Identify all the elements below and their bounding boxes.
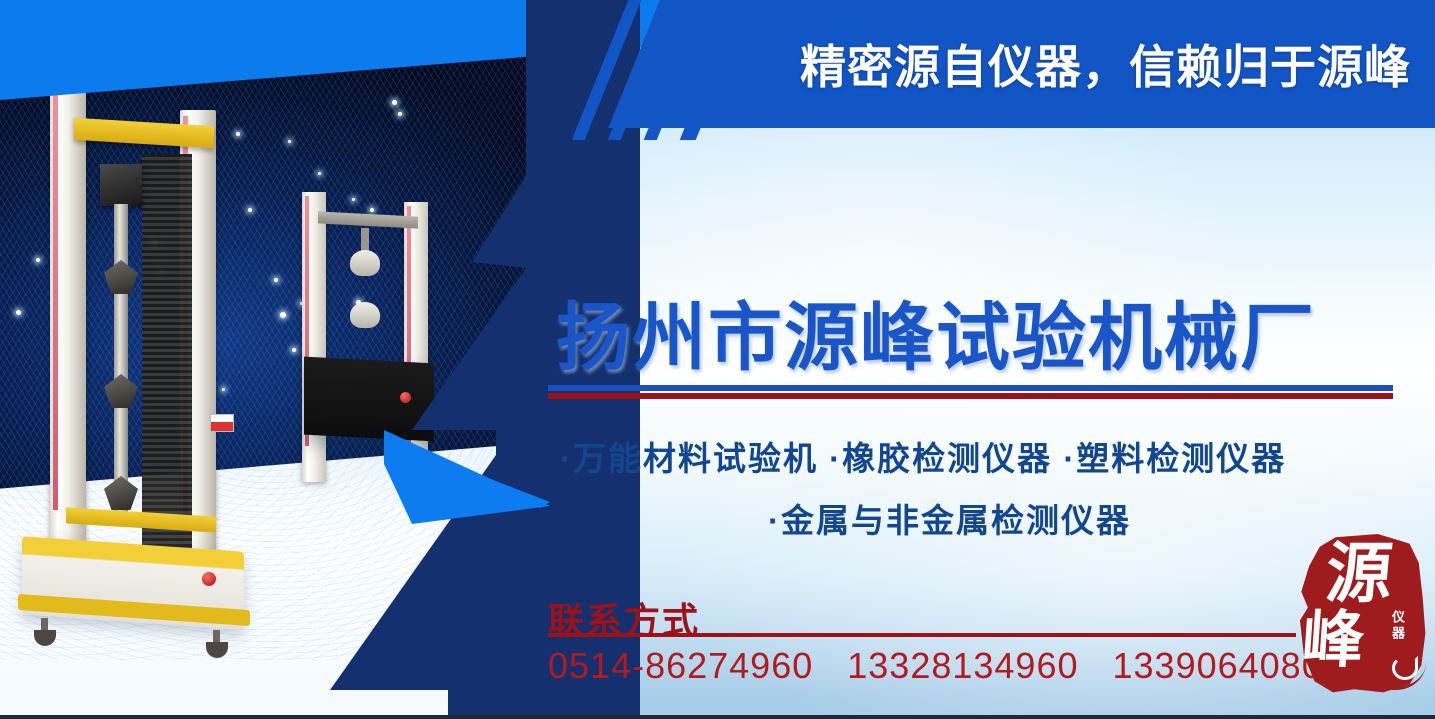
company-title: 扬州市源峰试验机械厂 (556, 278, 1396, 385)
seal-wave-inner-icon (1392, 656, 1418, 680)
promotional-banner: 精密源自仪器，信赖归于源峰 扬州市源峰试验机械厂 ·万能材料试验机 ·橡胶检测仪… (0, 0, 1435, 719)
brand-seal-logo: 源 峰 仪器 (1296, 534, 1428, 694)
content-area: 扬州市源峰试验机械厂 ·万能材料试验机 ·橡胶检测仪器 ·塑料检测仪器 ·金属与… (0, 0, 1435, 719)
contact-divider (548, 633, 1296, 637)
divider-red-line (548, 393, 1393, 399)
product-line-2: ·金属与非金属检测仪器 (768, 494, 1131, 542)
title-divider (548, 385, 1393, 399)
bottom-border (0, 715, 1435, 719)
contact-phone-list: 0514-862749601332813496013390640809 (548, 645, 1344, 687)
phone-number-1[interactable]: 0514-86274960 (548, 645, 813, 686)
phone-number-2[interactable]: 13328134960 (847, 645, 1078, 686)
divider-blue-line (548, 385, 1393, 391)
seal-char-yiqi: 仪器 (1388, 610, 1407, 642)
seal-char-yuan: 源 (1323, 542, 1395, 608)
product-line-1: ·万能材料试验机 ·橡胶检测仪器 ·塑料检测仪器 (560, 432, 1286, 480)
seal-char-feng: 峰 (1300, 610, 1366, 672)
